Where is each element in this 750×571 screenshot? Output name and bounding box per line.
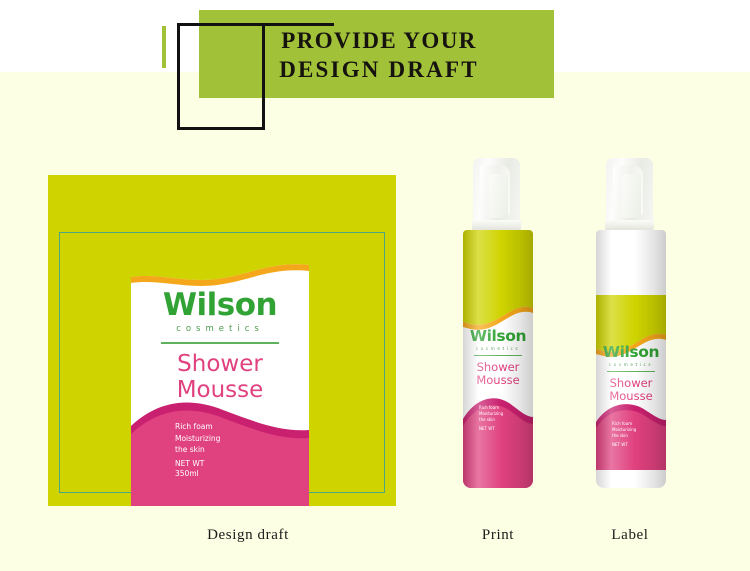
caption-print: Print (438, 527, 558, 544)
header-accent-bar (162, 26, 166, 68)
label-product-line2: Mousse (609, 389, 652, 403)
print-net-weight: NET WT (479, 426, 495, 432)
print-top-wave (463, 230, 533, 340)
print-description: Rich foam Moisturizing the skin (479, 405, 503, 423)
label-bottle-body: Wilson cosmetics Shower Mousse Rich foam… (596, 230, 666, 488)
desc-line1: Rich foam (175, 422, 213, 431)
marketing-image: PROVIDE YOUR DESIGN DRAFT Wilson cosmeti… (0, 0, 750, 571)
label-description: Rich foam Moisturizing the skin (612, 421, 636, 439)
caption-design-draft: Design draft (148, 527, 348, 544)
label-bottle-artwork: Wilson cosmetics Shower Mousse Rich foam… (596, 295, 666, 470)
brand-divider (161, 342, 279, 344)
print-bottle: Wilson cosmetics Shower Mousse Rich foam… (463, 158, 533, 488)
label-brand-subtitle: cosmetics (596, 362, 666, 367)
netwt-line2: 350ml (175, 469, 199, 478)
label-product-name: Shower Mousse (596, 377, 666, 403)
product-name-line2: Mousse (177, 377, 264, 403)
design-draft-artwork: Wilson cosmetics Shower Mousse Rich foam… (131, 255, 309, 506)
caption-label: Label (570, 527, 690, 544)
print-bottle-body: Wilson cosmetics Shower Mousse Rich foam… (463, 230, 533, 488)
netwt-line1: NET WT (175, 459, 204, 468)
page-title-line1: PROVIDE YOUR (219, 26, 539, 55)
print-product-line1: Shower (477, 360, 520, 374)
orange-top-wave (131, 255, 309, 289)
page-title-line2: DESIGN DRAFT (219, 55, 539, 84)
print-bottle-overcap (473, 158, 520, 224)
label-desc-line1: Rich foam (612, 421, 632, 426)
print-desc-line1: Rich foam (479, 405, 499, 410)
print-brand-divider (474, 355, 522, 356)
label-netwt-line1: NET WT (612, 442, 628, 447)
label-brand-name: Wilson (596, 343, 666, 361)
product-description: Rich foam Moisturizing the skin (175, 421, 220, 456)
print-bottle-pump-stem (489, 174, 508, 218)
print-bottle-collar (472, 220, 521, 230)
product-name-line1: Shower (177, 351, 263, 377)
desc-line3: the skin (175, 445, 205, 454)
print-product-name: Shower Mousse (463, 361, 533, 387)
print-desc-line3: the skin (479, 417, 495, 422)
desc-line2: Moisturizing (175, 434, 220, 443)
label-bottle-pump-stem (622, 174, 641, 218)
label-brand-divider (607, 371, 655, 372)
label-desc-line3: the skin (612, 433, 628, 438)
print-netwt-line1: NET WT (479, 426, 495, 431)
print-product-line2: Mousse (476, 373, 519, 387)
brand-subtitle: cosmetics (131, 324, 309, 334)
page-title: PROVIDE YOUR DESIGN DRAFT (219, 26, 539, 84)
label-bottle-collar (605, 220, 654, 230)
product-name: Shower Mousse (131, 351, 309, 403)
print-brand-subtitle: cosmetics (463, 346, 533, 351)
brand-name: Wilson (131, 287, 309, 323)
print-brand-name: Wilson (463, 327, 533, 345)
print-desc-line2: Moisturizing (479, 411, 503, 416)
net-weight: NET WT 350ml (175, 459, 204, 479)
label-product-line1: Shower (610, 376, 653, 390)
label-bottle: Wilson cosmetics Shower Mousse Rich foam… (596, 158, 666, 488)
label-desc-line2: Moisturizing (612, 427, 636, 432)
label-net-weight: NET WT (612, 442, 628, 448)
print-bottle-artwork: Wilson cosmetics Shower Mousse Rich foam… (463, 230, 533, 488)
label-bottle-overcap (606, 158, 653, 224)
